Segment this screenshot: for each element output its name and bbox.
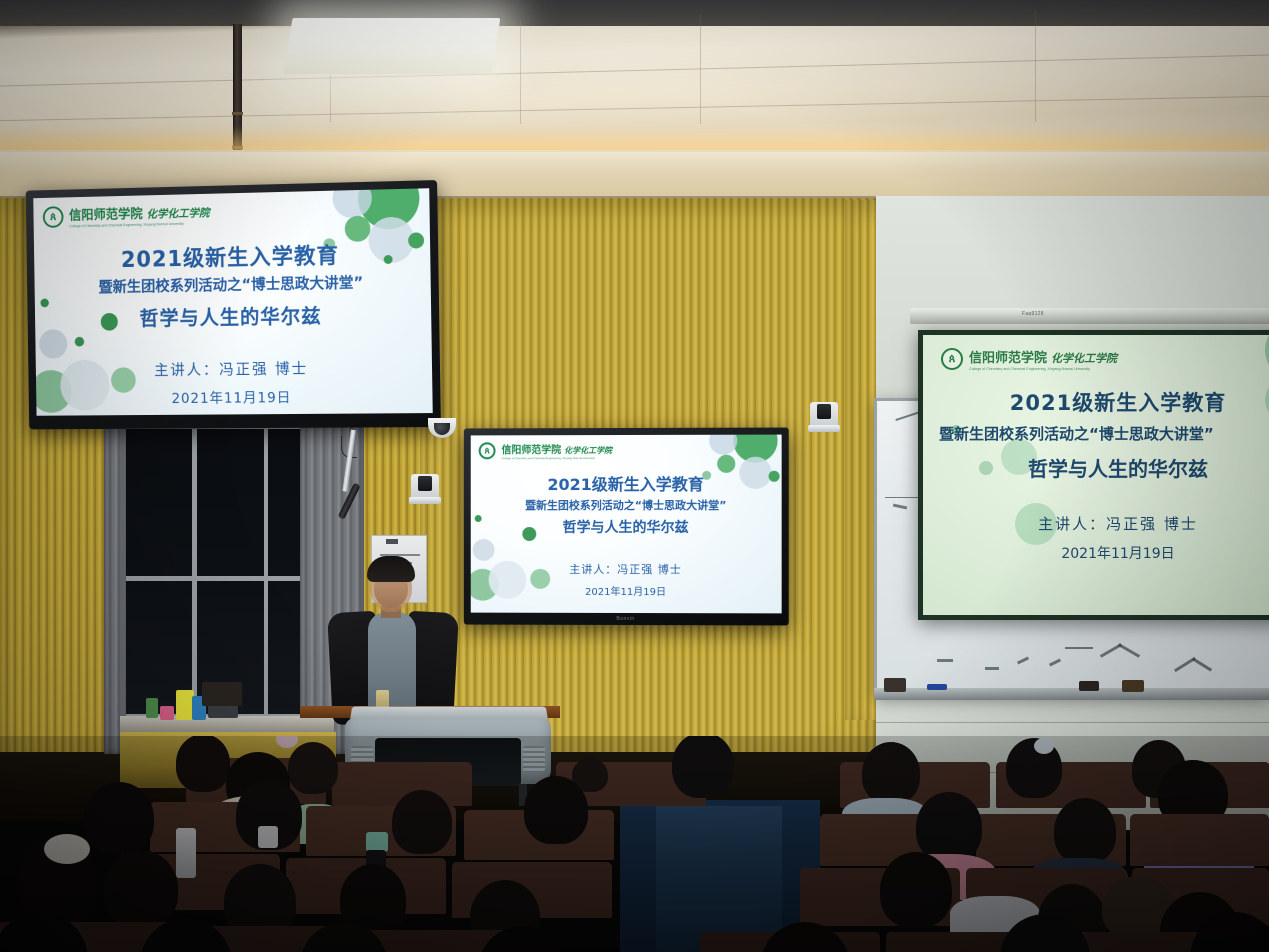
main-display-screen: ጰ 信阳师范学院 化学化工学院 College of Chemistry and… xyxy=(33,188,432,416)
center-display-brand: Bonvin xyxy=(616,616,634,622)
curtain-left xyxy=(104,424,126,754)
logo-text-block: 信阳师范学院 化学化工学院 College of Chemistry and C… xyxy=(69,202,210,229)
logo-college-name: 化学化工学院 xyxy=(564,445,612,456)
projection-screen-rail: Faa9128 xyxy=(910,308,1269,324)
audience-head xyxy=(760,922,850,952)
logo-text-block: 信阳师范学院 化学化工学院 College of Chemistry and C… xyxy=(969,347,1117,371)
whiteboard-mark xyxy=(1049,659,1061,667)
audience-head xyxy=(916,792,982,862)
whiteboard-mark xyxy=(1065,647,1093,649)
university-seal-icon: ጰ xyxy=(43,206,64,228)
camera-lens-icon xyxy=(418,476,432,491)
ceiling-light-icon xyxy=(284,18,501,74)
projection-rail-label: Faa9128 xyxy=(1022,311,1044,317)
thermos-bottle xyxy=(176,828,196,878)
slide-topic: 哲学与人生的华尔兹 xyxy=(471,517,782,537)
slide-date: 2021年11月19日 xyxy=(923,543,1269,563)
wall-seam xyxy=(876,722,1269,723)
lecture-hall-photo: ጰ 信阳师范学院 化学化工学院 College of Chemistry and… xyxy=(0,0,1269,952)
whiteboard-marker-icon xyxy=(927,684,947,690)
logo-text-block: 信阳师范学院 化学化工学院 College of Chemistry and C… xyxy=(501,441,612,460)
sill-cup xyxy=(160,706,174,720)
seat xyxy=(1130,814,1269,866)
headband xyxy=(44,834,90,864)
audience-head xyxy=(524,776,588,844)
thermos-bottle xyxy=(366,832,388,852)
logo-college-name: 化学化工学院 xyxy=(146,205,209,222)
audience-head xyxy=(176,736,230,792)
window-mullion xyxy=(264,426,268,718)
whiteboard-mark xyxy=(893,504,907,510)
slide-content-main: ጰ 信阳师范学院 化学化工学院 College of Chemistry and… xyxy=(33,188,432,416)
whiteboard-mark xyxy=(1118,643,1140,658)
audience-head xyxy=(104,850,178,928)
ceiling-tile-seam xyxy=(520,20,521,124)
wall-camera-icon xyxy=(411,474,439,500)
center-display-bezel: ጰ 信阳师范学院 化学化工学院 College of Chemistry and… xyxy=(464,428,789,626)
slide-topic: 哲学与人生的华尔兹 xyxy=(923,453,1269,482)
center-display[interactable]: ጰ 信阳师范学院 化学化工学院 College of Chemistry and… xyxy=(464,428,789,626)
whiteboard-mark xyxy=(1192,657,1212,671)
logo-english-name: College of Chemistry and Chemical Engine… xyxy=(969,367,1117,371)
logo-university-name: 信阳师范学院 xyxy=(69,203,143,223)
wall-sign-badge xyxy=(386,539,398,544)
slide-speaker: 主讲人：冯正强 博士 xyxy=(36,356,432,381)
logo-college-name: 化学化工学院 xyxy=(1051,350,1117,366)
audience-head xyxy=(288,742,338,794)
decor-circle xyxy=(39,329,68,358)
audience-head xyxy=(880,852,952,928)
whiteboard-mark xyxy=(895,411,920,421)
wall-camera-icon xyxy=(810,402,838,428)
sill-items xyxy=(202,682,242,706)
audience-head xyxy=(862,742,920,804)
slide-subtitle: 暨新生团校系列活动之“博士思政大讲堂” xyxy=(923,423,1269,444)
whiteboard-mark xyxy=(937,659,953,662)
window-mullion xyxy=(122,576,308,581)
projection-screen-frame: ጰ 信阳师范学院 化学化工学院 College of Chemistry and… xyxy=(918,330,1269,620)
main-display[interactable]: ጰ 信阳师范学院 化学化工学院 College of Chemistry and… xyxy=(26,180,441,429)
whiteboard-eraser-icon xyxy=(1122,680,1144,692)
camera-base xyxy=(808,425,840,432)
slide-title: 2021级新生入学教育 xyxy=(34,236,431,275)
audience-area xyxy=(0,736,1269,952)
slide-date: 2021年11月19日 xyxy=(36,386,432,409)
university-seal-icon: ጰ xyxy=(479,442,496,459)
presenter-hair xyxy=(367,556,415,582)
slide-content-projection: ጰ 信阳师范学院 化学化工学院 College of Chemistry and… xyxy=(923,335,1269,615)
institution-logo: ጰ 信阳师范学院 化学化工学院 College of Chemistry and… xyxy=(941,347,1117,371)
projection-screen[interactable]: Faa9128 ጰ 信阳师范学院 化学化工学院 xyxy=(918,330,1269,620)
decor-circle xyxy=(709,435,737,455)
institution-logo: ጰ 信阳师范学院 化学化工学院 College of Chemistry and… xyxy=(43,202,210,229)
institution-logo: ጰ 信阳师范学院 化学化工学院 College of Chemistry and… xyxy=(479,441,612,460)
audience-head xyxy=(392,790,452,854)
sill-papers xyxy=(208,704,238,718)
window-mullion xyxy=(192,426,197,718)
slide-speaker: 主讲人：冯正强 博士 xyxy=(923,513,1269,534)
slide-subtitle: 暨新生团校系列活动之“博士思政大讲堂” xyxy=(471,497,782,513)
hair-clip xyxy=(276,736,298,748)
whiteboard-mark xyxy=(985,667,999,670)
slide-speaker: 主讲人：冯正强 博士 xyxy=(471,561,782,577)
camera-base xyxy=(409,497,441,504)
logo-university-name: 信阳师范学院 xyxy=(969,347,1047,366)
audience-head xyxy=(672,736,734,798)
main-display-bezel: ጰ 信阳师范学院 化学化工学院 College of Chemistry and… xyxy=(26,180,441,429)
slide-topic: 哲学与人生的华尔兹 xyxy=(35,298,432,332)
slide-title: 2021级新生入学教育 xyxy=(471,471,782,495)
whiteboard-eraser-icon xyxy=(1079,681,1099,691)
ceiling-dark-strip xyxy=(0,0,1269,26)
decor-circle xyxy=(473,539,495,561)
whiteboard-eraser-icon xyxy=(884,678,906,692)
audience-head xyxy=(84,782,154,854)
decor-circle xyxy=(1265,335,1269,379)
logo-university-name: 信阳师范学院 xyxy=(501,441,561,456)
ceiling-tile-seam xyxy=(0,54,1269,86)
slide-date: 2021年11月19日 xyxy=(471,583,782,599)
projection-screen-surface: ጰ 信阳师范学院 化学化工学院 College of Chemistry and… xyxy=(923,335,1269,615)
whiteboard-mark xyxy=(1017,657,1029,665)
slide-content-center: ጰ 信阳师范学院 化学化工学院 College of Chemistry and… xyxy=(471,435,782,614)
slide-title: 2021级新生入学教育 xyxy=(923,387,1269,417)
sill-plant xyxy=(146,698,158,718)
ceiling-tile-seam xyxy=(700,14,701,124)
audience-head xyxy=(1054,798,1116,864)
ceiling-tile-seam xyxy=(1035,10,1036,122)
ceiling-tile-seam xyxy=(0,96,1269,121)
hair-clip xyxy=(1034,738,1054,754)
decor-circle xyxy=(75,337,85,347)
center-display-screen: ጰ 信阳师范学院 化学化工学院 College of Chemistry and… xyxy=(471,435,782,614)
thermos-bottle xyxy=(258,826,278,848)
dome-camera-lens-icon xyxy=(434,423,450,435)
university-seal-icon: ጰ xyxy=(941,348,963,370)
logo-english-name: College of Chemistry and Chemical Engine… xyxy=(501,456,612,460)
pole-band xyxy=(232,112,243,115)
camera-lens-icon xyxy=(817,404,831,419)
